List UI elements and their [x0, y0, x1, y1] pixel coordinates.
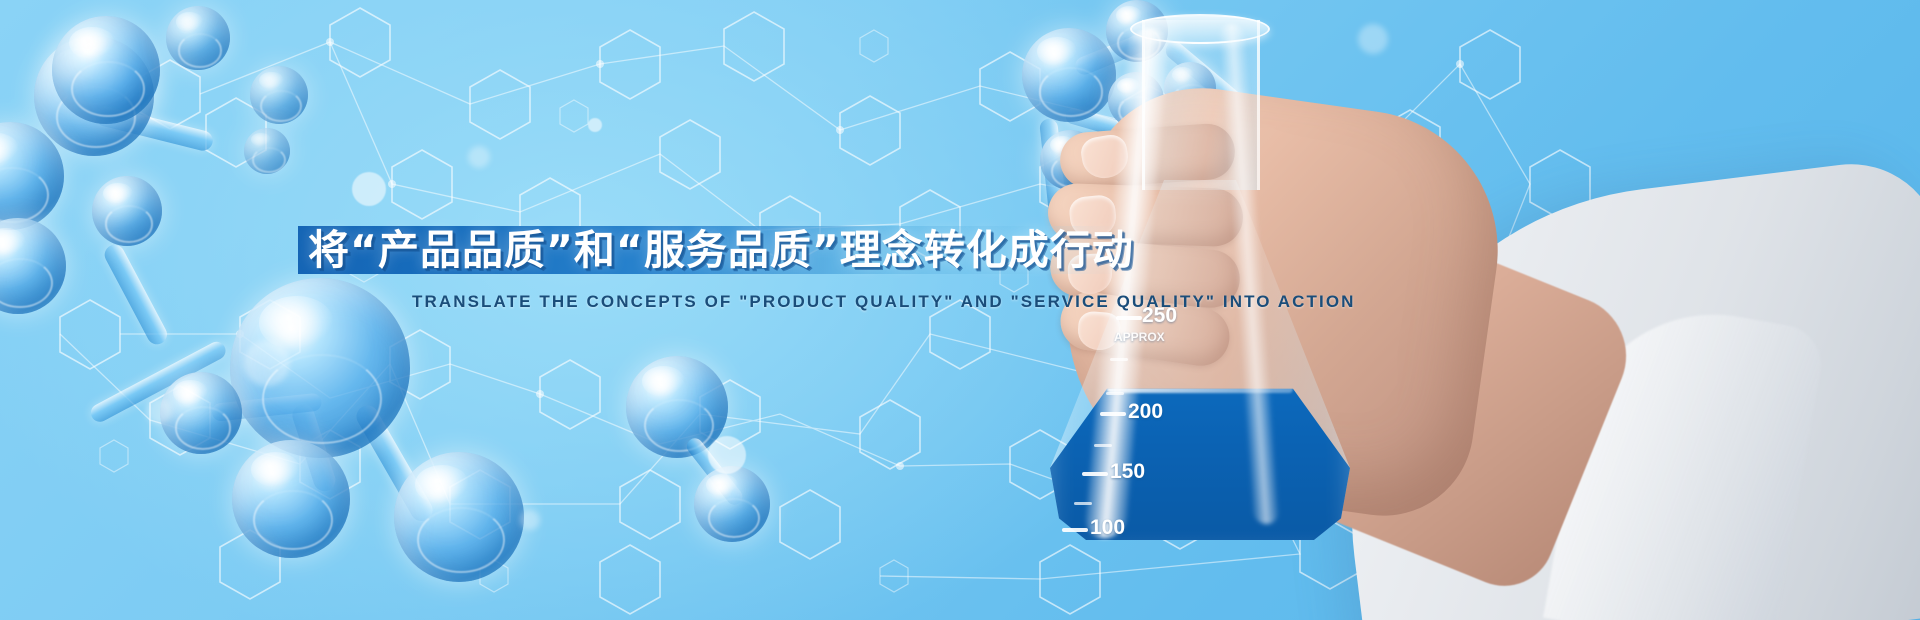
molecule-sphere — [232, 440, 350, 558]
molecule-sphere — [250, 66, 308, 124]
molecule-sphere — [52, 16, 160, 124]
page-subtitle: TRANSLATE THE CONCEPTS OF "PRODUCT QUALI… — [412, 292, 1356, 312]
headline-block: 将“产品品质”和“服务品质”理念转化成行动 — [298, 226, 1118, 274]
graduation-label-150: 150 — [1110, 460, 1145, 484]
molecule-sphere — [166, 6, 230, 70]
molecule-sphere — [694, 466, 770, 542]
molecule-sphere — [244, 128, 290, 174]
graduation-label-200: 200 — [1128, 400, 1163, 424]
molecule-sphere — [0, 218, 66, 314]
page-title: 将“产品品质”和“服务品质”理念转化成行动 — [308, 210, 1308, 290]
molecule-sphere — [394, 452, 524, 582]
graduation-approx-label: APPROX — [1114, 330, 1165, 344]
molecule-sphere — [160, 372, 242, 454]
graduation-label-100: 100 — [1090, 516, 1125, 540]
hero-banner: 250 APPROX 200 150 100 将“产品品质”和“服务品质”理念转… — [0, 0, 1920, 620]
molecule-sphere — [92, 176, 162, 246]
